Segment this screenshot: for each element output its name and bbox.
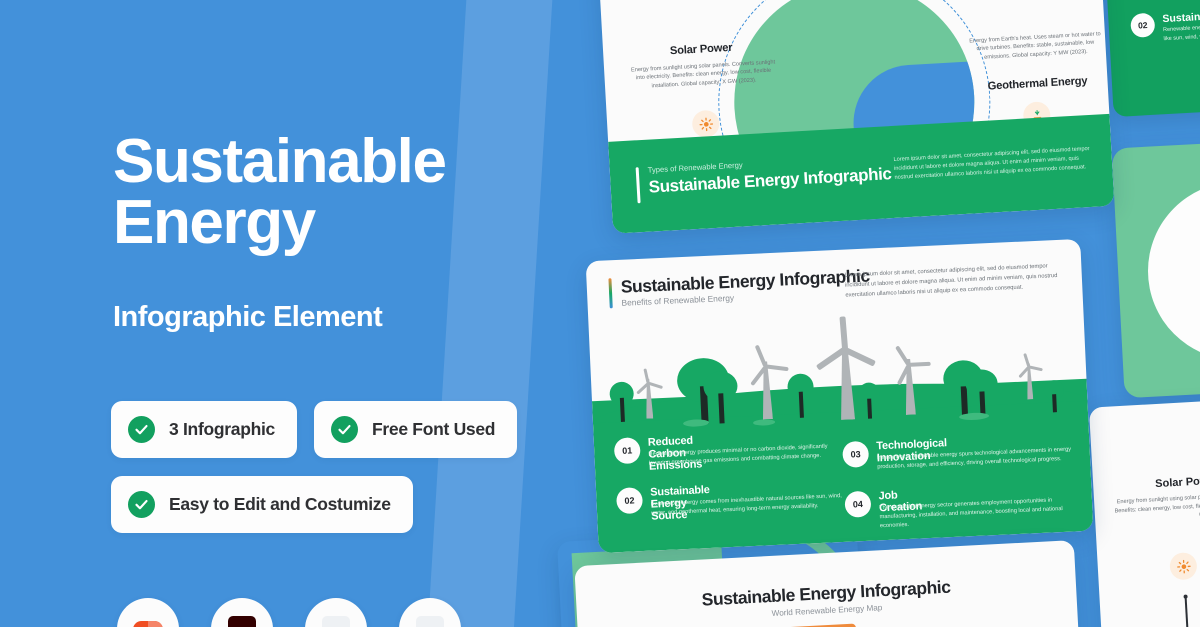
app-logo-icon[interactable] xyxy=(399,598,461,627)
windmill-icon xyxy=(632,366,664,419)
tree-icon xyxy=(1044,380,1065,413)
feature-badge-label: Free Font Used xyxy=(372,419,495,440)
tree-icon xyxy=(965,369,999,418)
feature-badge-label: 3 Infographic xyxy=(169,419,275,440)
page-title: Sustainable Energy xyxy=(113,131,533,254)
energy-type-desc-geo: Energy from Earth's heat. Uses steam or … xyxy=(969,30,1102,63)
energy-type-desc: Energy from sunlight using solar panels.… xyxy=(1112,488,1200,525)
tree-icon xyxy=(857,382,881,419)
feature-badge-infographic-count[interactable]: 3 Infographic xyxy=(111,401,297,458)
feature-badge-list: 3 Infographic Free Font Used Easy to Edi… xyxy=(111,401,541,551)
windmill-icon xyxy=(886,340,933,416)
check-circle-icon xyxy=(128,491,155,518)
app-logo-icon[interactable] xyxy=(305,598,367,627)
sun-icon xyxy=(692,110,720,138)
sun-icon xyxy=(1169,552,1197,580)
windmill-icon xyxy=(741,340,790,420)
leader-line xyxy=(1185,593,1200,627)
benefit-title: Sustainable Energy Source xyxy=(1162,6,1200,26)
bush-shape xyxy=(753,419,775,426)
map-callout-banner[interactable]: Type Your title Here Lorem ipsum dolor s… xyxy=(656,624,857,627)
tree-icon xyxy=(609,381,635,422)
card-right-benefits-preview[interactable]: 01 Reduced Carbon Emissions Renewable en… xyxy=(1103,0,1200,117)
card-lorem: Lorem ipsum dolor sit amet, consectetur … xyxy=(893,145,1094,184)
check-circle-icon xyxy=(331,416,358,443)
card-benefits-of-renewable-energy[interactable]: Sustainable Energy Infographic Benefits … xyxy=(586,239,1094,553)
tree-icon xyxy=(787,373,815,418)
tree-icon xyxy=(703,371,739,424)
feature-badge-label: Easy to Edit and Costumize xyxy=(169,494,391,515)
feature-badge-free-font[interactable]: Free Font Used xyxy=(314,401,517,458)
check-circle-icon xyxy=(128,416,155,443)
accent-bar xyxy=(636,167,641,203)
figma-logo-icon[interactable] xyxy=(117,598,179,627)
app-compatibility-logos xyxy=(117,598,461,627)
card-types-of-renewable-energy[interactable]: Solar Power Energy from sunlight using s… xyxy=(592,0,1115,234)
energy-type-name: Solar Power xyxy=(1155,475,1200,491)
page-subtitle: Infographic Element xyxy=(113,301,382,334)
bush-shape xyxy=(683,419,709,427)
card-right-types-preview[interactable]: Solar Power Energy from sunlight using s… xyxy=(1089,389,1200,627)
wind-farm-illustration xyxy=(588,283,1088,435)
feature-badge-easy-edit[interactable]: Easy to Edit and Costumize xyxy=(111,476,413,533)
card-title: Sustainable Energy Infographic xyxy=(620,266,870,298)
energy-type-name-geo: Geothermal Energy xyxy=(971,74,1103,93)
windmill-icon xyxy=(1014,351,1044,400)
promo-panel: Sustainable Energy Infographic Element 3… xyxy=(0,0,520,627)
adobe-illustrator-logo-icon[interactable] xyxy=(211,598,273,627)
card-footer-types: Types of Renewable Energy Sustainable En… xyxy=(608,114,1114,234)
benefit-number: 02 xyxy=(1130,13,1155,38)
